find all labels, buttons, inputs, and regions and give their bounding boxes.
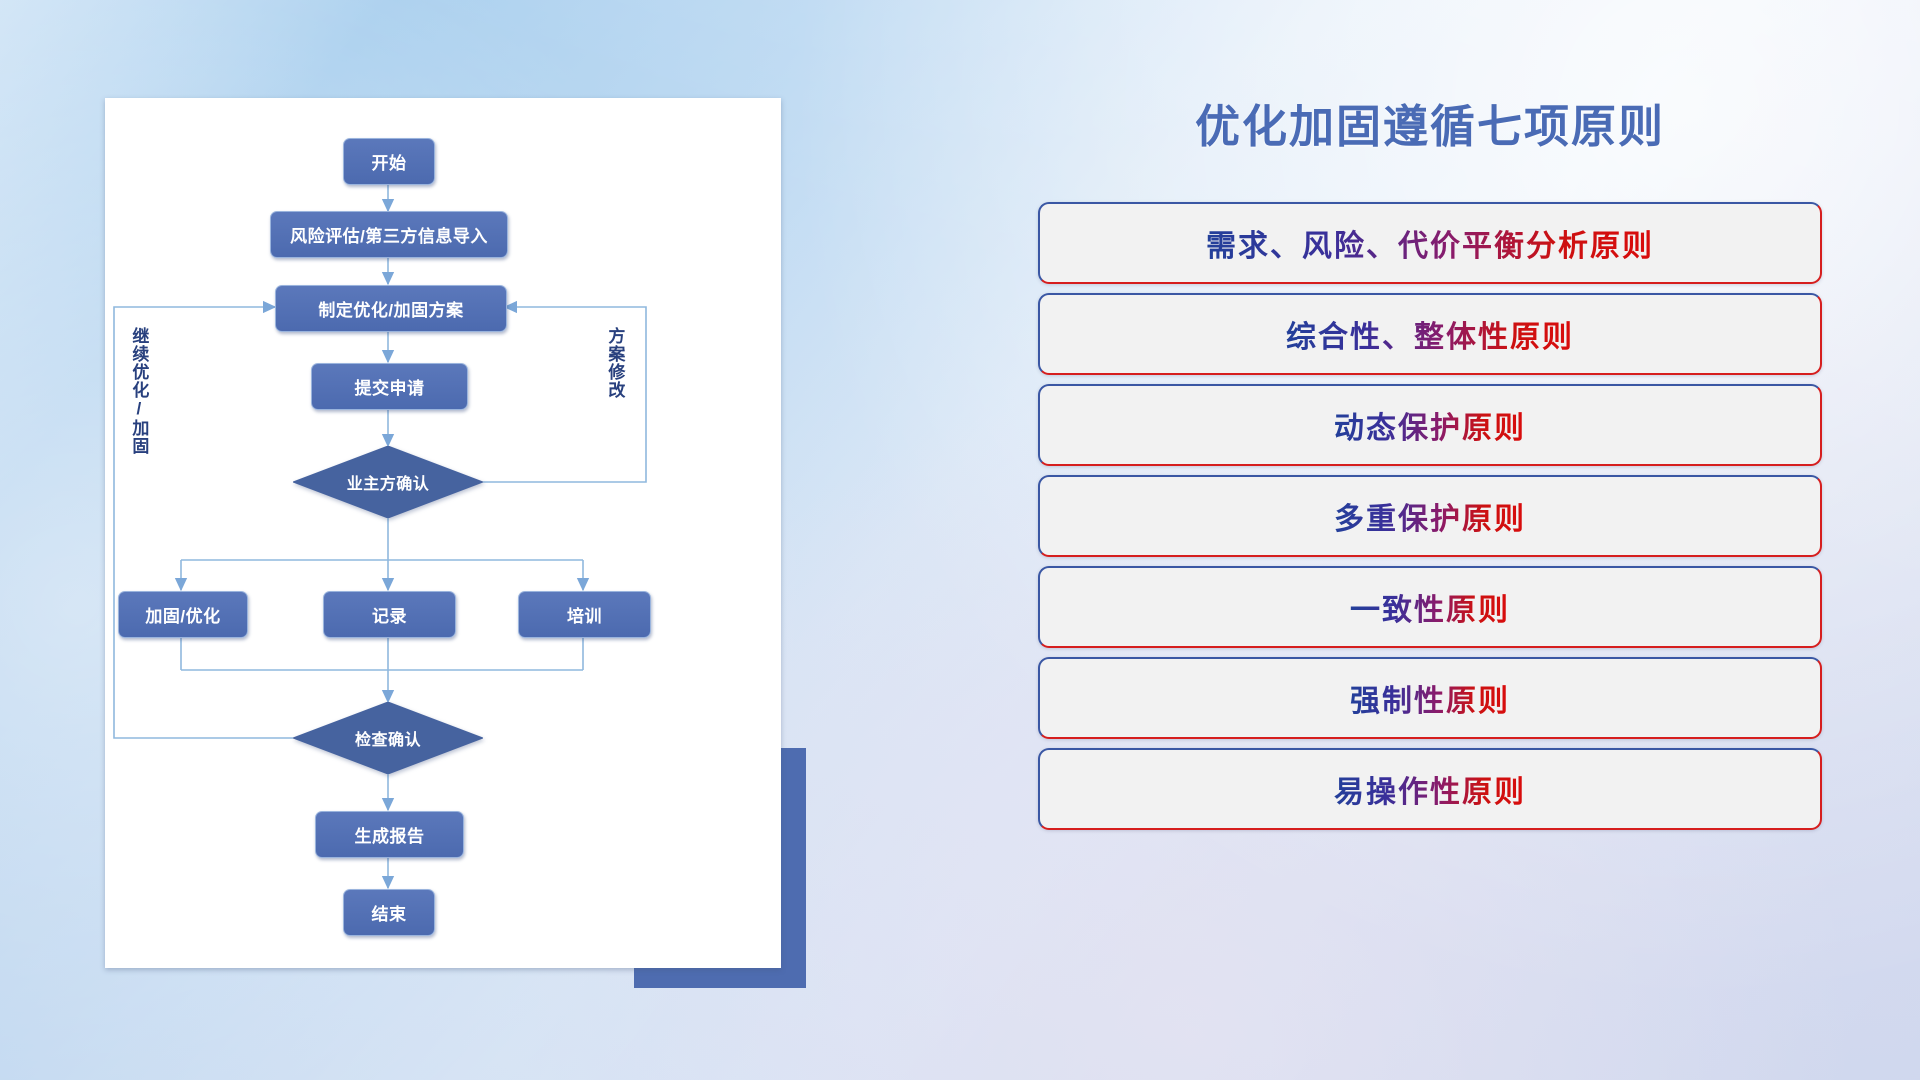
flow-node-training-label: 培训	[567, 602, 602, 627]
principle-card-3[interactable]: 动态保护原则	[1038, 384, 1822, 466]
flow-node-start[interactable]: 开始	[343, 138, 435, 185]
flow-node-record-label: 记录	[372, 602, 407, 627]
principle-card-7[interactable]: 易操作性原则	[1038, 748, 1822, 830]
principle-card-4[interactable]: 多重保护原则	[1038, 475, 1822, 557]
principle-label-5: 一致性原则	[1350, 585, 1510, 629]
flow-decision-check-confirm-label: 检查确认	[293, 702, 483, 774]
principle-card-6[interactable]: 强制性原则	[1038, 657, 1822, 739]
flow-edge-label-plan-revision: 方案修改	[605, 327, 623, 399]
flow-node-plan-label: 制定优化/加固方案	[318, 296, 463, 321]
principle-card-1[interactable]: 需求、风险、代价平衡分析原则	[1038, 202, 1822, 284]
flow-node-end[interactable]: 结束	[343, 889, 435, 936]
flow-node-record[interactable]: 记录	[323, 591, 456, 638]
flow-decision-owner-confirm[interactable]: 业主方确认	[293, 446, 483, 518]
flowchart-nodes: 开始 风险评估/第三方信息导入 制定优化/加固方案 提交申请 业主方确认 加固/…	[105, 98, 781, 968]
flow-node-plan[interactable]: 制定优化/加固方案	[275, 285, 507, 332]
principle-label-7: 易操作性原则	[1334, 767, 1526, 811]
flow-node-submit[interactable]: 提交申请	[311, 363, 468, 410]
flow-node-start-label: 开始	[372, 149, 407, 174]
flow-node-submit-label: 提交申请	[355, 374, 425, 399]
principle-label-2: 综合性、整体性原则	[1286, 312, 1574, 356]
panel-title: 优化加固遵循七项原则	[1020, 90, 1840, 155]
flow-node-risk-assessment-label: 风险评估/第三方信息导入	[290, 222, 488, 247]
flow-decision-check-confirm[interactable]: 检查确认	[293, 702, 483, 774]
principle-card-5[interactable]: 一致性原则	[1038, 566, 1822, 648]
flow-node-risk-assessment[interactable]: 风险评估/第三方信息导入	[270, 211, 508, 258]
flow-edge-label-continue-loop: 继续优化/加固	[129, 327, 147, 455]
flow-node-training[interactable]: 培训	[518, 591, 651, 638]
flow-node-reinforce[interactable]: 加固/优化	[118, 591, 248, 638]
flow-node-reinforce-label: 加固/优化	[145, 602, 220, 627]
flow-node-end-label: 结束	[372, 900, 407, 925]
principle-label-1: 需求、风险、代价平衡分析原则	[1206, 221, 1654, 265]
principle-label-4: 多重保护原则	[1334, 494, 1526, 538]
principles-panel: 优化加固遵循七项原则 需求、风险、代价平衡分析原则 综合性、整体性原则 动态保护…	[1020, 90, 1840, 1010]
flow-node-report[interactable]: 生成报告	[315, 811, 464, 858]
principle-label-3: 动态保护原则	[1334, 403, 1526, 447]
flow-node-report-label: 生成报告	[355, 822, 425, 847]
principle-card-2[interactable]: 综合性、整体性原则	[1038, 293, 1822, 375]
principle-label-6: 强制性原则	[1350, 676, 1510, 720]
flowchart-card: 开始 风险评估/第三方信息导入 制定优化/加固方案 提交申请 业主方确认 加固/…	[105, 98, 781, 968]
flow-decision-owner-confirm-label: 业主方确认	[293, 446, 483, 518]
